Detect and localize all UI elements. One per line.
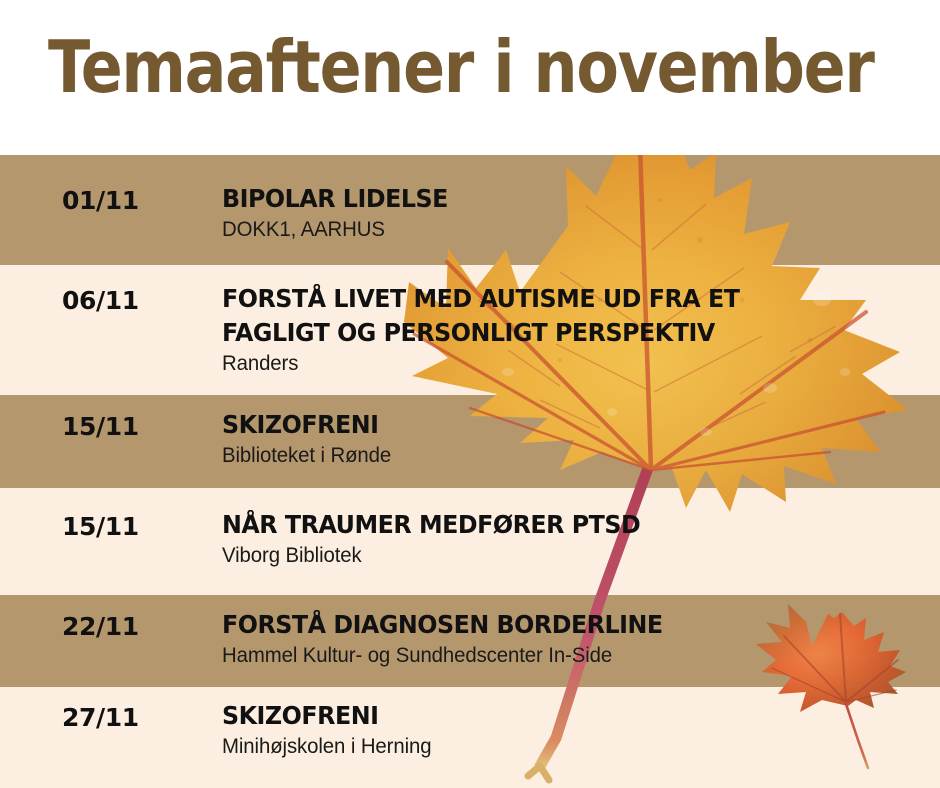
- event-date: 22/11: [62, 612, 139, 641]
- event-date: 27/11: [62, 703, 139, 732]
- event-title: FORSTÅ LIVET MED AUTISME UD FRA ET FAGLI…: [222, 282, 895, 350]
- event-body: NÅR TRAUMER MEDFØRER PTSD Viborg Bibliot…: [222, 508, 930, 570]
- title-area: Temaaftener i november: [0, 0, 940, 155]
- event-venue: DOKK1, AARHUS: [222, 216, 909, 244]
- event-body: BIPOLAR LIDELSE DOKK1, AARHUS: [222, 182, 930, 244]
- event-body: SKIZOFRENI Biblioteket i Rønde: [222, 408, 930, 470]
- event-row: 15/11 SKIZOFRENI Biblioteket i Rønde: [0, 395, 940, 488]
- event-title: BIPOLAR LIDELSE: [222, 182, 895, 216]
- event-body: SKIZOFRENI Minihøjskolen i Herning: [222, 699, 930, 761]
- event-venue: Randers: [222, 350, 909, 378]
- event-row: 01/11 BIPOLAR LIDELSE DOKK1, AARHUS: [0, 155, 940, 265]
- event-date: 15/11: [62, 512, 139, 541]
- event-venue: Viborg Bibliotek: [222, 542, 909, 570]
- page-title: Temaaftener i november: [48, 26, 874, 108]
- event-body: FORSTÅ LIVET MED AUTISME UD FRA ET FAGLI…: [222, 282, 930, 378]
- event-date: 01/11: [62, 186, 139, 215]
- event-row: 27/11 SKIZOFRENI Minihøjskolen i Herning: [0, 687, 940, 788]
- event-title: NÅR TRAUMER MEDFØRER PTSD: [222, 508, 895, 542]
- event-row: 22/11 FORSTÅ DIAGNOSEN BORDERLINE Hammel…: [0, 595, 940, 687]
- event-date: 15/11: [62, 412, 139, 441]
- event-row: 06/11 FORSTÅ LIVET MED AUTISME UD FRA ET…: [0, 265, 940, 395]
- event-body: FORSTÅ DIAGNOSEN BORDERLINE Hammel Kultu…: [222, 608, 930, 670]
- event-date: 06/11: [62, 286, 139, 315]
- event-venue: Hammel Kultur- og Sundhedscenter In-Side: [222, 642, 909, 670]
- event-title: SKIZOFRENI: [222, 408, 895, 442]
- event-row: 15/11 NÅR TRAUMER MEDFØRER PTSD Viborg B…: [0, 488, 940, 595]
- event-title: FORSTÅ DIAGNOSEN BORDERLINE: [222, 608, 895, 642]
- poster-canvas: Temaaftener i november 01/11 BIPOLAR LID…: [0, 0, 940, 788]
- event-venue: Minihøjskolen i Herning: [222, 733, 909, 761]
- event-venue: Biblioteket i Rønde: [222, 442, 909, 470]
- event-title: SKIZOFRENI: [222, 699, 895, 733]
